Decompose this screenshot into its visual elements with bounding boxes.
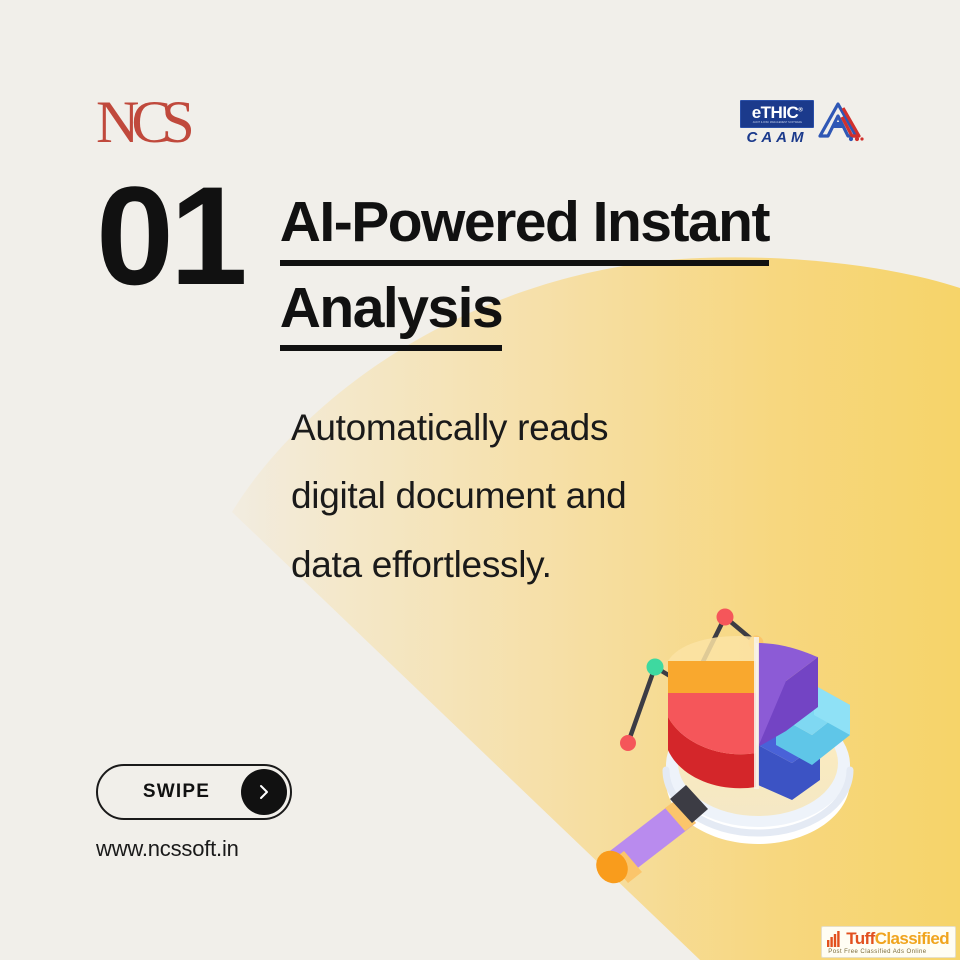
website-url[interactable]: www.ncssoft.in	[96, 836, 239, 862]
watermark-brand: TuffClassified	[846, 930, 949, 947]
ethic-word-text: eTHIC	[752, 103, 799, 122]
body-copy: Automatically reads digital document and…	[291, 394, 626, 599]
watermark-tuffclassified: TuffClassified Post Free Classified Ads …	[821, 926, 956, 958]
pie-slice-orange	[668, 661, 756, 693]
line-point-2	[647, 659, 664, 676]
page-title: AI-Powered Instant Analysis	[280, 188, 769, 351]
swipe-button[interactable]: SWIPE	[96, 764, 292, 820]
step-number: 01	[96, 176, 244, 296]
ethic-box: eTHIC® AUDIT & RISK MANAGEMENT SOFTWARE	[740, 100, 814, 128]
watermark-brand-part2: Classified	[875, 929, 949, 948]
line-point-1	[620, 735, 636, 751]
brand-logo-ncs: NCS	[96, 92, 193, 152]
magnifier-handle	[590, 785, 708, 885]
ethic-label: eTHIC®	[752, 104, 803, 121]
bar-chart-icon	[827, 931, 843, 947]
headline-line-1: AI-Powered Instant	[280, 188, 769, 266]
logo-letter-s: S	[161, 89, 192, 155]
body-line-3: data effortlessly.	[291, 531, 626, 599]
registered-icon: ®	[798, 107, 802, 113]
swipe-arrow-circle[interactable]	[241, 769, 287, 815]
watermark-tagline: Post Free Classified Ads Online	[828, 949, 926, 955]
ethic-caam-block: eTHIC® AUDIT & RISK MANAGEMENT SOFTWARE …	[740, 100, 814, 145]
certification-badge: eTHIC® AUDIT & RISK MANAGEMENT SOFTWARE …	[740, 100, 864, 145]
headline-block: 01 AI-Powered Instant Analysis	[96, 176, 769, 351]
line-point-4	[717, 609, 734, 626]
body-line-1: Automatically reads	[291, 394, 626, 462]
body-line-2: digital document and	[291, 462, 626, 530]
slide-canvas: NCS eTHIC® AUDIT & RISK MANAGEMENT SOFTW…	[0, 0, 960, 960]
watermark-brand-row: TuffClassified	[827, 930, 949, 947]
logo-letter-n: N	[96, 89, 137, 155]
headline-line-2: Analysis	[280, 274, 502, 352]
chevron-right-icon	[254, 782, 274, 802]
data-analysis-illustration	[580, 595, 880, 885]
watermark-brand-part1: Tuff	[846, 929, 874, 948]
caam-triangle-icon	[818, 102, 864, 144]
ethic-tagline: AUDIT & RISK MANAGEMENT SOFTWARE	[752, 122, 801, 125]
caam-label: CAAM	[747, 130, 808, 145]
swipe-button-label: SWIPE	[98, 781, 241, 803]
